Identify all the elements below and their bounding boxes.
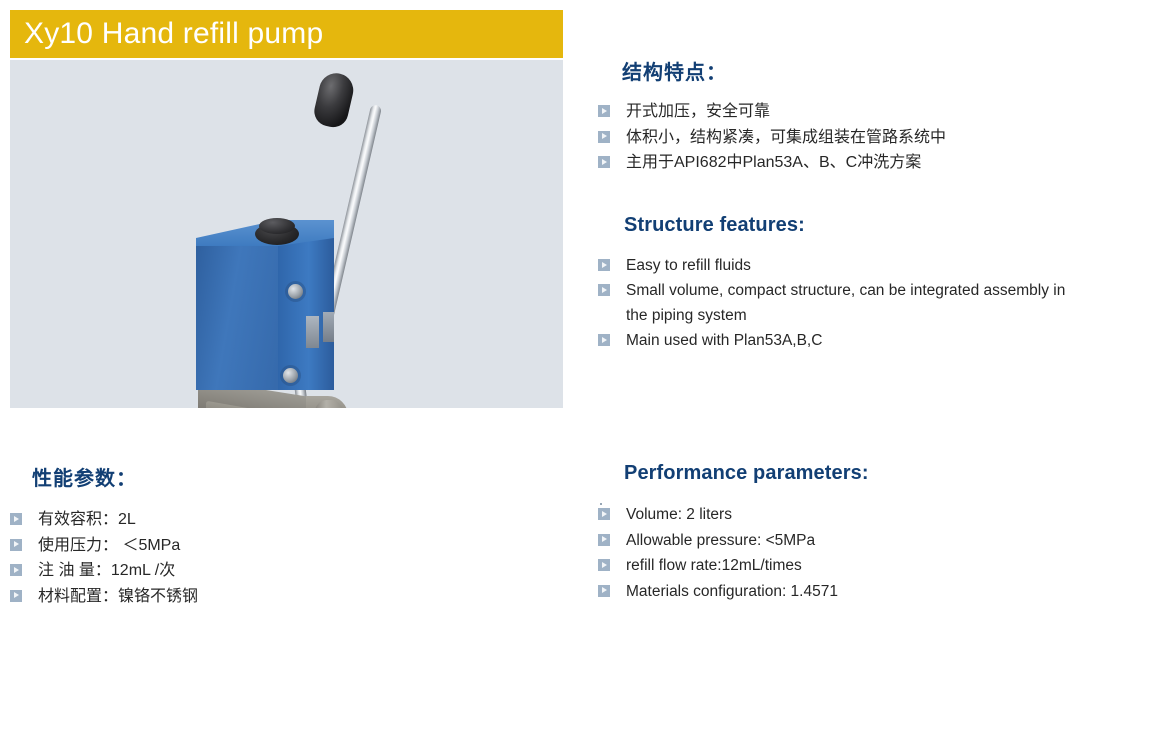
structure-features-en-list: Easy to refill fluids Small volume, comp… [598,253,1068,353]
play-arrow-bullet-icon [598,534,610,546]
table-row: 使用压力： ＜5MPa [10,533,410,559]
list-item-label: Main used with Plan53A,B,C [626,332,822,349]
play-arrow-bullet-icon [598,284,610,296]
name-plate [306,316,319,348]
product-title-bar: Xy10 Hand refill pump [10,10,563,58]
reservoir-front-face [278,220,334,390]
parameter-text: refill flow rate:12mL/times [626,557,802,574]
play-arrow-bullet-icon [598,131,610,143]
parameter-text: 有效容积：2L [38,511,136,528]
performance-parameters-cn-list: 有效容积：2L 使用压力： ＜5MPa 注 油 量：12mL /次 材料配置：镍… [10,507,410,609]
product-image-panel [10,60,563,408]
list-item: Small volume, compact structure, can be … [598,278,1068,328]
table-row: refill flow rate:12mL/times [598,553,1068,579]
list-item: 开式加压，安全可靠 [598,99,1118,125]
structure-features-en-heading: Structure features: [624,214,1068,237]
play-arrow-bullet-icon [10,539,22,551]
performance-parameters-cn-heading: 性能参数： [32,462,410,491]
port-fitting-upper [288,284,303,299]
list-item-label: Easy to refill fluids [626,257,751,274]
list-item-label: 开式加压，安全可靠 [626,103,770,120]
table-row: Materials configuration: 1.4571 [598,579,1068,605]
list-item-label: 主用于API682中Plan53A、B、C冲洗方案 [626,154,921,171]
port-fitting-lower [283,368,298,383]
play-arrow-bullet-icon [10,513,22,525]
performance-parameters-en-list: Volume: 2 liters Allowable pressure: <5M… [598,502,1068,604]
play-arrow-bullet-icon [598,259,610,271]
lever-knob-icon [311,70,356,130]
table-row: 注 油 量：12mL /次 [10,558,410,584]
play-arrow-bullet-icon [598,559,610,571]
parameter-text: 材料配置：镍铬不锈钢 [38,588,198,605]
list-item: Main used with Plan53A,B,C [598,328,1068,353]
reservoir-left-face [196,238,280,390]
table-row: 有效容积：2L [10,507,410,533]
play-arrow-bullet-icon [598,156,610,168]
parameter-text: 注 油 量：12mL /次 [38,562,175,579]
filler-cap-icon [259,218,295,234]
table-row: Volume: 2 liters [598,502,1068,528]
performance-parameters-en-section: Performance parameters: Volume: 2 liters… [598,462,1068,604]
list-item: 主用于API682中Plan53A、B、C冲洗方案 [598,150,1118,176]
play-arrow-bullet-icon [598,585,610,597]
pump-illustration [10,60,563,408]
table-row: Allowable pressure: <5MPa [598,528,1068,554]
play-arrow-bullet-icon [10,564,22,576]
parameter-text: 使用压力： ＜5MPa [38,537,180,554]
list-item: 体积小，结构紧凑，可集成组装在管路系统中 [598,125,1118,151]
structure-features-cn-heading: 结构特点： [622,56,1118,85]
page-title: Xy10 Hand refill pump [10,17,323,51]
parameter-text: Allowable pressure: <5MPa [626,532,815,549]
list-item: Easy to refill fluids [598,253,1068,278]
performance-parameters-cn-section: 性能参数： 有效容积：2L 使用压力： ＜5MPa 注 油 量：12mL /次 … [10,462,410,609]
play-arrow-bullet-icon [10,590,22,602]
list-item-label: 体积小，结构紧凑，可集成组装在管路系统中 [626,129,946,146]
play-arrow-bullet-icon [598,334,610,346]
play-arrow-bullet-icon [598,508,610,520]
parameter-text: Volume: 2 liters [626,506,732,523]
name-plate-secondary [323,312,334,342]
performance-parameters-en-heading: Performance parameters: [624,462,1068,485]
structure-features-en-section: Structure features: Easy to refill fluid… [598,214,1068,353]
structure-features-cn-list: 开式加压，安全可靠 体积小，结构紧凑，可集成组装在管路系统中 主用于API682… [598,99,1118,176]
list-item-label: Small volume, compact structure, can be … [626,282,1065,324]
structure-features-cn-section: 结构特点： 开式加压，安全可靠 体积小，结构紧凑，可集成组装在管路系统中 主用于… [598,56,1118,176]
table-row: 材料配置：镍铬不锈钢 [10,584,410,610]
play-arrow-bullet-icon [598,105,610,117]
parameter-text: Materials configuration: 1.4571 [626,583,838,600]
